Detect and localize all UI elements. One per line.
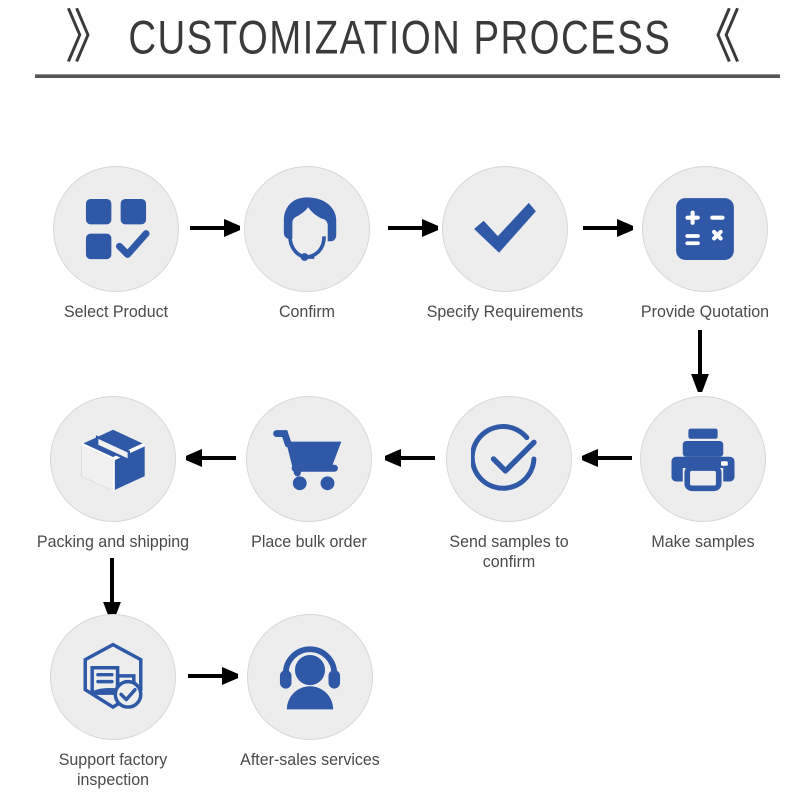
step-icon-circle [50,396,176,522]
connector-arrow-left [186,448,236,468]
step-provide-quotation[interactable]: Provide Quotation [620,166,790,322]
headset-agent-icon [268,190,346,268]
step-icon-circle [50,614,176,740]
step-after-sales-services[interactable]: After-sales services [225,614,395,770]
chevron-left-double-icon: 《 [689,9,735,67]
step-packing-and-shipping[interactable]: Packing and shipping [28,396,198,552]
shopping-cart-icon [272,422,346,496]
step-label: Send samples to confirm [427,532,592,572]
step-label: Place bulk order [227,532,392,552]
step-icon-circle [247,614,373,740]
step-label: After-sales services [228,750,393,770]
step-label: Confirm [225,302,390,322]
step-specify-requirements[interactable]: Specify Requirements [420,166,590,322]
step-icon-circle [442,166,568,292]
connector-arrow-down [102,558,122,620]
step-make-samples[interactable]: Make samples [618,396,788,552]
step-support-factory-inspection[interactable]: Support factory inspection [28,614,198,790]
step-label: Specify Requirements [423,302,588,322]
grid-check-icon [79,192,153,266]
chevron-right-double-icon: 》 [65,9,111,67]
checkmark-icon [467,191,543,267]
step-label: Support factory inspection [31,750,196,790]
connector-arrow-right [583,218,633,238]
page-header: 》 CUSTOMIZATION PROCESS 《 [0,0,800,90]
step-confirm[interactable]: Confirm [222,166,392,322]
title-row: 》 CUSTOMIZATION PROCESS 《 [0,8,800,68]
circle-check-icon [471,421,547,497]
package-box-icon [74,420,152,498]
printer-icon [667,423,739,495]
step-icon-circle [642,166,768,292]
connector-arrow-right [188,666,238,686]
header-divider [35,74,780,78]
step-send-samples-to-confirm[interactable]: Send samples to confirm [424,396,594,572]
connector-arrow-right [388,218,438,238]
step-label: Packing and shipping [31,532,196,552]
step-icon-circle [53,166,179,292]
factory-shield-check-icon [76,640,150,714]
connector-arrow-right [190,218,240,238]
step-place-bulk-order[interactable]: Place bulk order [224,396,394,552]
connector-arrow-left [385,448,435,468]
support-person-icon [273,640,347,714]
step-icon-circle [446,396,572,522]
calculator-icon [672,196,738,262]
connector-arrow-down [690,330,710,392]
step-icon-circle [244,166,370,292]
page-title: CUSTOMIZATION PROCESS [129,11,672,64]
step-icon-circle [246,396,372,522]
step-label: Make samples [621,532,786,552]
connector-arrow-left [582,448,632,468]
step-label: Select Product [34,302,199,322]
step-icon-circle [640,396,766,522]
step-label: Provide Quotation [623,302,788,322]
step-select-product[interactable]: Select Product [31,166,201,322]
